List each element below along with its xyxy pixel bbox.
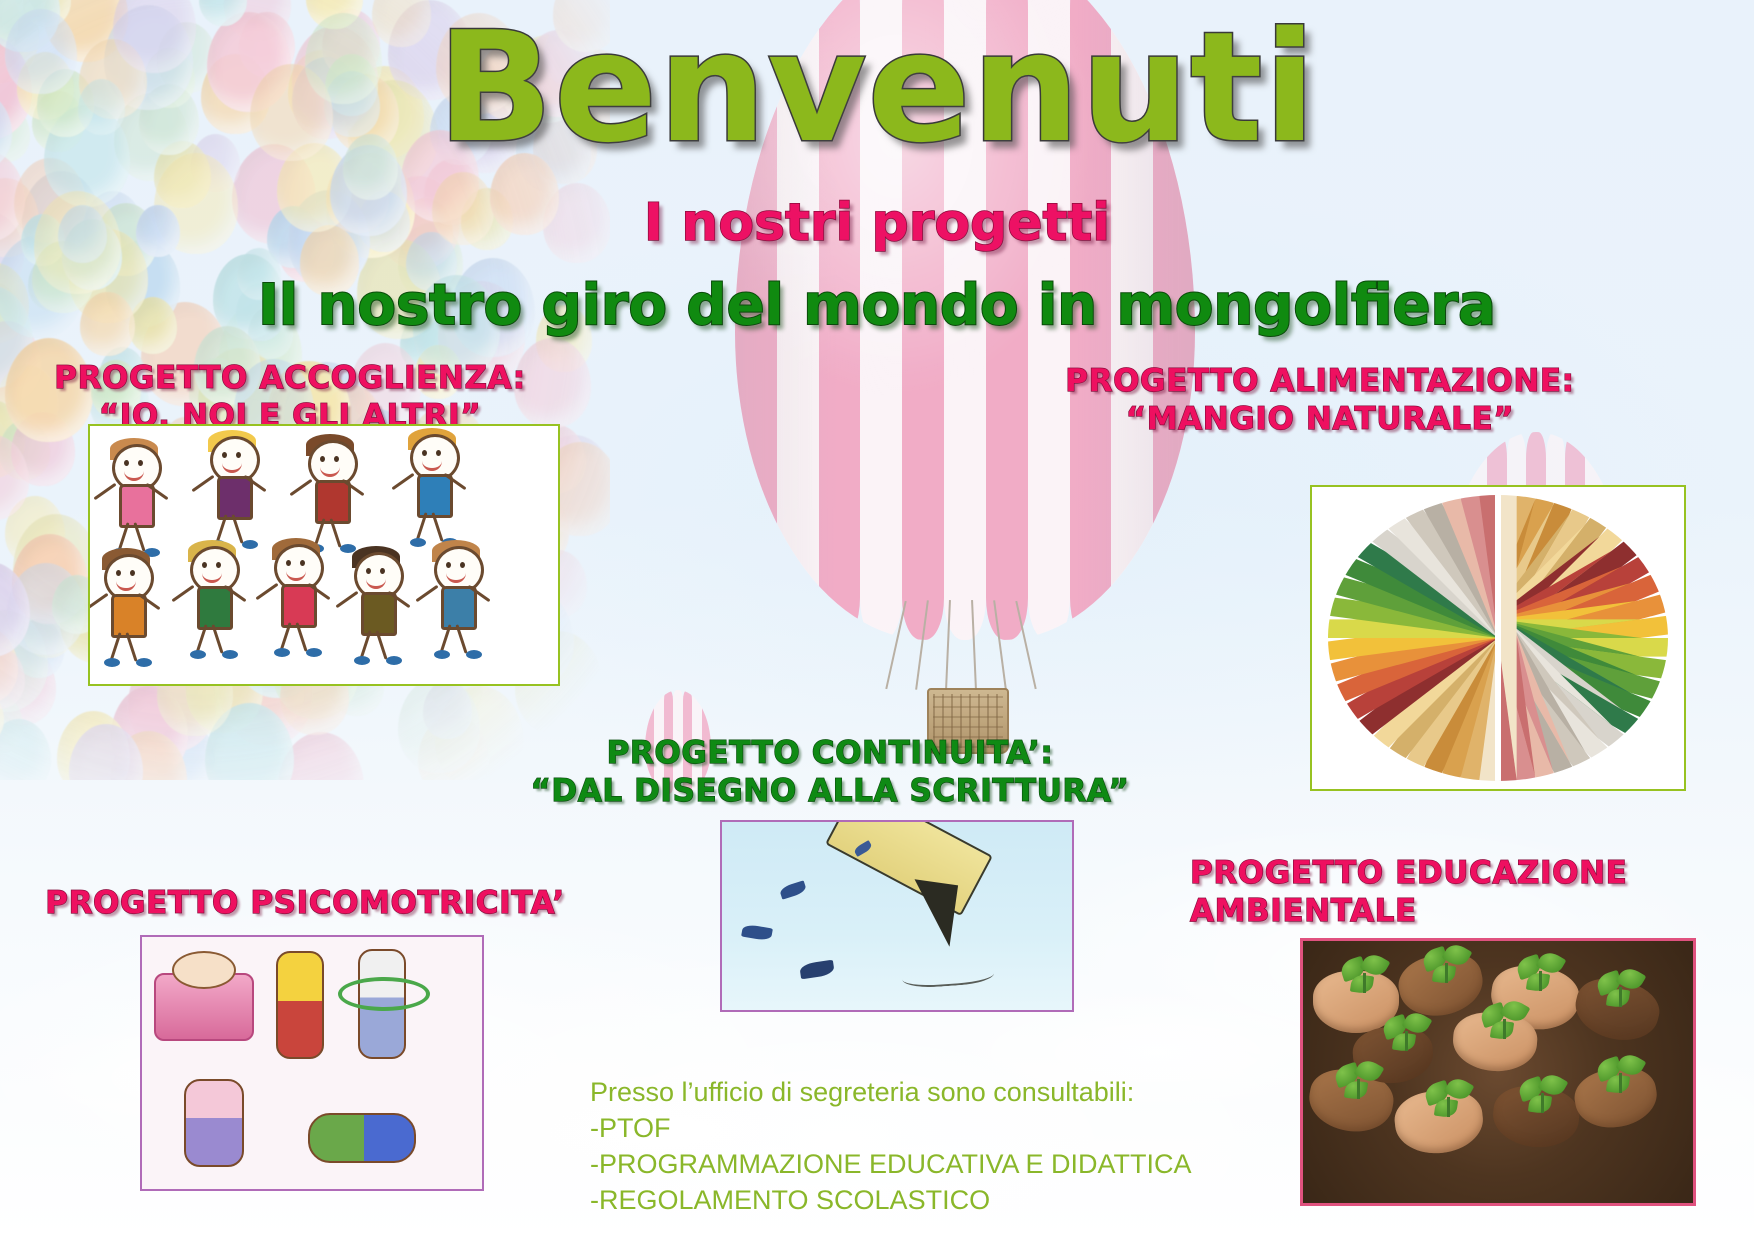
seedling bbox=[1423, 1077, 1475, 1123]
seedling bbox=[1595, 967, 1647, 1013]
heading-progetto-educazione-ambientale: PROGETTO EDUCAZIONE AMBIENTALE bbox=[1190, 855, 1710, 931]
heading-progetto-psicomotricita: PROGETTO PSICOMOTRICITA’ bbox=[20, 885, 590, 923]
child-standing bbox=[276, 951, 324, 1059]
seedling bbox=[1421, 943, 1473, 989]
poster-canvas: Benvenuti I nostri progetti Il nostro gi… bbox=[0, 0, 1754, 1240]
food-wheel-divider bbox=[1495, 495, 1502, 781]
fish-2 bbox=[741, 923, 773, 941]
balloon-rope bbox=[945, 600, 951, 690]
seedling bbox=[1515, 951, 1567, 997]
fish-1 bbox=[779, 880, 807, 899]
seedling bbox=[1339, 953, 1391, 999]
image-psicomotricita bbox=[140, 935, 484, 1191]
heading-progetto-continuita: PROGETTO CONTINUITA’: “DAL DISEGNO ALLA … bbox=[500, 735, 1160, 811]
seedling bbox=[1517, 1073, 1569, 1119]
image-continuita bbox=[720, 820, 1074, 1012]
seedling bbox=[1595, 1053, 1647, 1099]
child-lying bbox=[308, 1113, 416, 1163]
children-drawing-illustration bbox=[90, 426, 558, 684]
secretariat-note: Presso l’ufficio di segreteria sono cons… bbox=[590, 1075, 1192, 1219]
balloon-rope bbox=[971, 600, 977, 690]
balloon-rope bbox=[915, 600, 929, 689]
pencil-body bbox=[825, 820, 993, 916]
hands-seedlings-photo bbox=[1303, 941, 1693, 1203]
child-sitting bbox=[184, 1079, 244, 1167]
image-alimentazione bbox=[1310, 485, 1686, 791]
fish-3 bbox=[799, 960, 835, 980]
image-accoglienza bbox=[88, 424, 560, 686]
page-tagline: Il nostro giro del mondo in mongolfiera bbox=[0, 273, 1754, 338]
signature-mark bbox=[901, 959, 994, 989]
balloon-rope bbox=[1015, 601, 1036, 689]
child-on-roller bbox=[172, 951, 236, 989]
hula-hoop bbox=[338, 977, 430, 1011]
balloon-shape bbox=[398, 677, 479, 773]
food-wheel-graphic bbox=[1328, 495, 1668, 781]
heading-progetto-alimentazione: PROGETTO ALIMENTAZIONE: “MANGIO NATURALE… bbox=[1060, 363, 1580, 439]
page-subtitle: I nostri progetti bbox=[0, 193, 1754, 253]
pencil-illustration bbox=[722, 822, 1072, 1010]
seedling bbox=[1381, 1011, 1433, 1057]
pencil-tip bbox=[906, 879, 958, 947]
balloon-ropes bbox=[895, 600, 1035, 690]
seedling bbox=[1479, 999, 1531, 1045]
seedling bbox=[1333, 1059, 1385, 1105]
page-title: Benvenuti bbox=[0, 12, 1754, 164]
image-educazione-ambientale bbox=[1300, 938, 1696, 1206]
balloon-rope bbox=[993, 600, 1007, 689]
psicomotricita-illustration bbox=[142, 937, 482, 1189]
